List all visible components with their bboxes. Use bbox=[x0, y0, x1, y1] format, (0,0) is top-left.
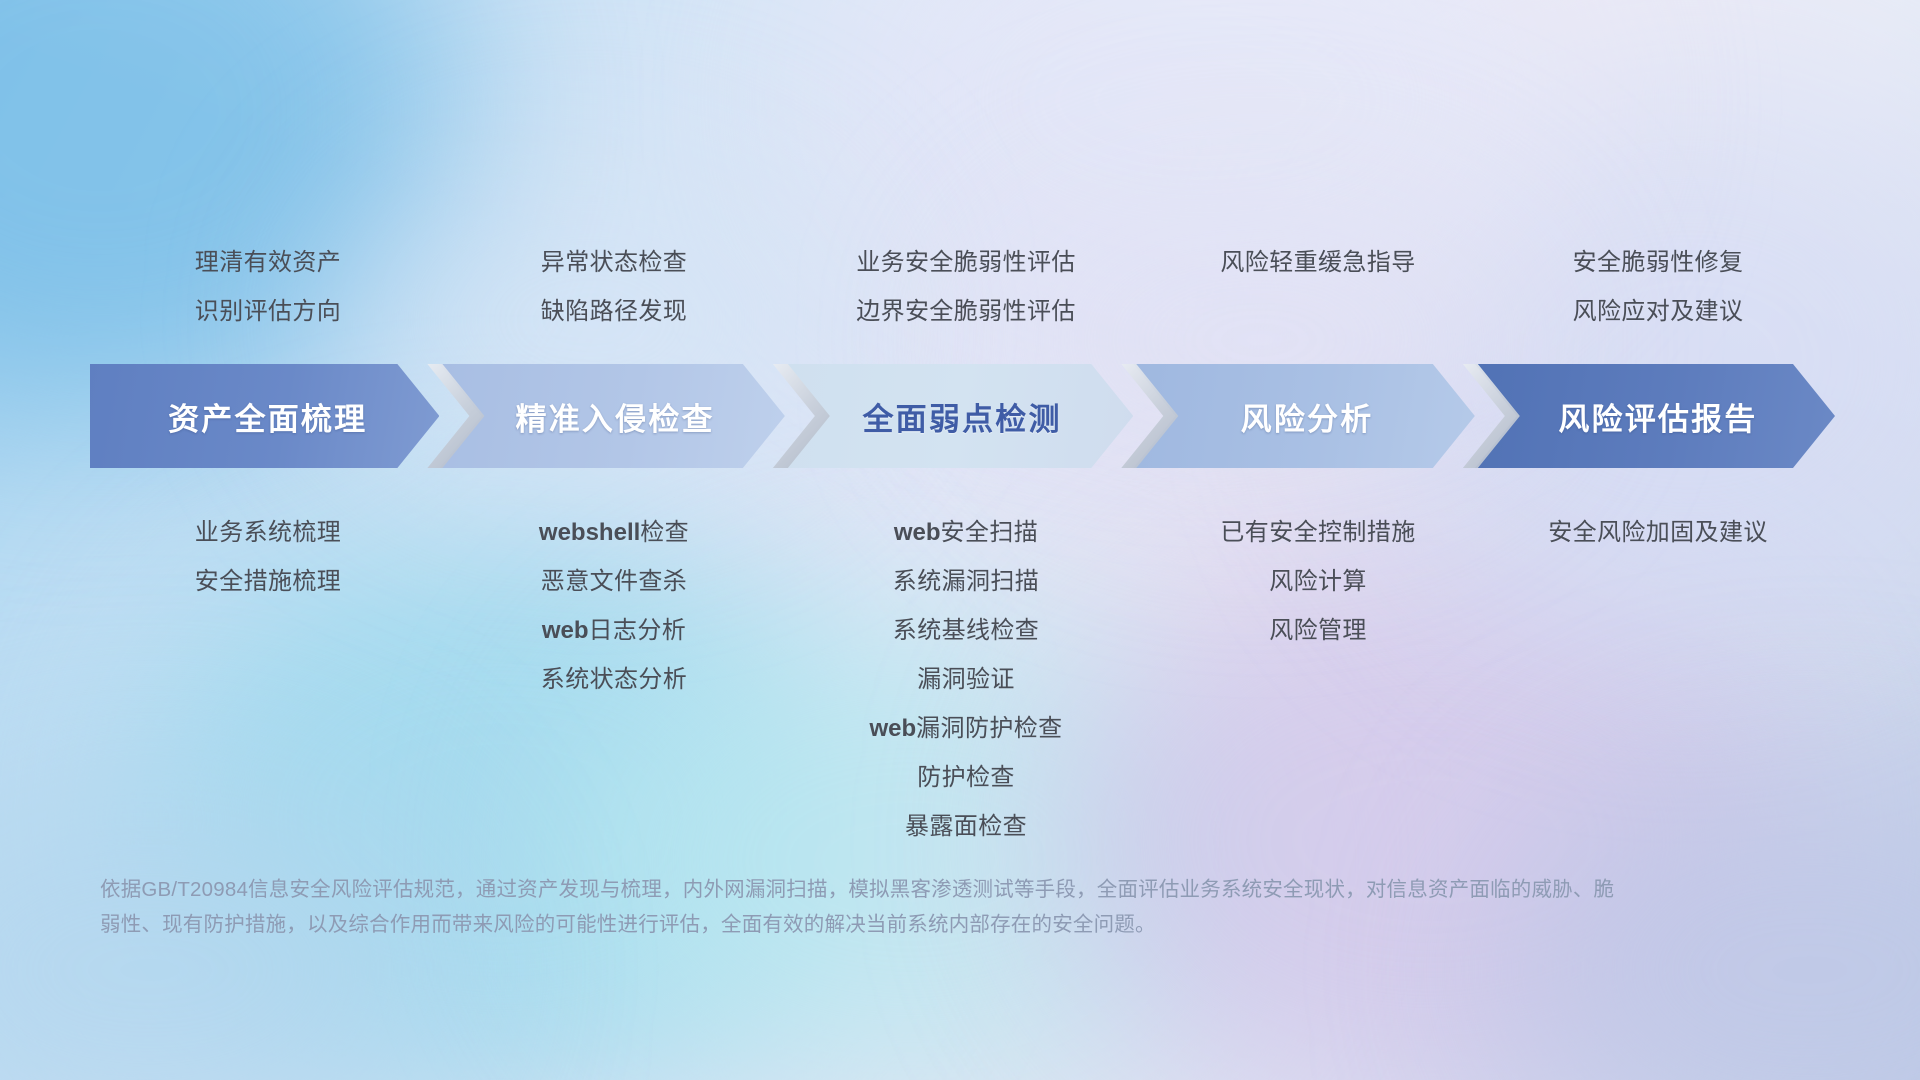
activity-text: 风险计算 bbox=[1269, 568, 1367, 595]
activity-line: 风险计算 bbox=[1269, 557, 1367, 606]
activity-line: 恶意文件查杀 bbox=[541, 557, 687, 606]
outcome-line: 风险轻重缓急指导 bbox=[1220, 238, 1415, 287]
activity-latin: web bbox=[542, 617, 589, 644]
activity-line: 风险管理 bbox=[1269, 606, 1367, 655]
stage-outcomes-intrusion-check: 异常状态检查 缺陷路径发现 bbox=[441, 238, 787, 336]
activity-text: 业务系统梳理 bbox=[195, 519, 341, 546]
activity-text: 系统状态分析 bbox=[541, 666, 687, 693]
activity-text: 防护检查 bbox=[917, 764, 1015, 791]
stage-label: 风险分析 bbox=[1133, 394, 1475, 439]
outcome-line: 风险应对及建议 bbox=[1573, 287, 1744, 336]
activity-text: 恶意文件查杀 bbox=[541, 568, 687, 595]
infographic-canvas: 理清有效资产 识别评估方向 异常状态检查 缺陷路径发现 业务安全脆弱性评估 边界… bbox=[0, 0, 1920, 1080]
activity-line: web漏洞防护检查 bbox=[869, 704, 1062, 753]
activity-line: 防护检查 bbox=[917, 753, 1015, 802]
activity-line: 漏洞验证 bbox=[917, 655, 1015, 704]
activity-line: 暴露面检查 bbox=[905, 802, 1027, 851]
stage-activities-row: 业务系统梳理 安全措施梳理 webshell检查 恶意文件查杀 web日志分析 … bbox=[95, 508, 1825, 851]
outcome-line: 识别评估方向 bbox=[195, 287, 341, 336]
activity-line: 安全措施梳理 bbox=[195, 557, 341, 606]
activity-latin: webshell bbox=[539, 519, 640, 546]
outcome-line: 安全脆弱性修复 bbox=[1573, 238, 1744, 287]
stage-chevron-intrusion-check[interactable]: 精准入侵检查 bbox=[439, 364, 784, 468]
stage-outcomes-row: 理清有效资产 识别评估方向 异常状态检查 缺陷路径发现 业务安全脆弱性评估 边界… bbox=[95, 238, 1825, 336]
outcome-line: 边界安全脆弱性评估 bbox=[856, 287, 1076, 336]
stage-label: 精准入侵检查 bbox=[439, 394, 784, 439]
stage-outcomes-assessment-report: 安全脆弱性修复 风险应对及建议 bbox=[1491, 238, 1825, 336]
activity-line: web日志分析 bbox=[542, 606, 686, 655]
activity-line: 业务系统梳理 bbox=[195, 508, 341, 557]
stage-activities-asset-inventory: 业务系统梳理 安全措施梳理 bbox=[95, 508, 441, 606]
outcome-line: 缺陷路径发现 bbox=[541, 287, 687, 336]
activity-line: 系统状态分析 bbox=[541, 655, 687, 704]
activity-line: web安全扫描 bbox=[894, 508, 1038, 557]
stage-chevron-weakness-detection[interactable]: 全面弱点检测 bbox=[785, 364, 1133, 468]
stage-chevron-asset-inventory[interactable]: 资产全面梳理 bbox=[90, 364, 439, 468]
activity-line: webshell检查 bbox=[539, 508, 689, 557]
outcome-line: 理清有效资产 bbox=[195, 238, 341, 287]
activity-text: 暴露面检查 bbox=[905, 813, 1027, 840]
activity-text: 系统基线检查 bbox=[893, 617, 1039, 644]
stage-label: 资产全面梳理 bbox=[90, 394, 439, 439]
stage-label: 全面弱点检测 bbox=[785, 394, 1133, 439]
activity-text: 安全扫描 bbox=[941, 519, 1039, 546]
activity-text: 已有安全控制措施 bbox=[1220, 519, 1415, 546]
activity-latin: web bbox=[894, 519, 941, 546]
stage-chevron-risk-analysis[interactable]: 风险分析 bbox=[1133, 364, 1475, 468]
stage-activities-risk-analysis: 已有安全控制措施 风险计算 风险管理 bbox=[1145, 508, 1491, 655]
activity-text: 检查 bbox=[640, 519, 689, 546]
activity-text: 漏洞防护检查 bbox=[916, 715, 1062, 742]
stage-outcomes-asset-inventory: 理清有效资产 识别评估方向 bbox=[95, 238, 441, 336]
stage-activities-assessment-report: 安全风险加固及建议 bbox=[1491, 508, 1825, 557]
activity-line: 系统漏洞扫描 bbox=[893, 557, 1039, 606]
stage-activities-weakness-detection: web安全扫描 系统漏洞扫描 系统基线检查 漏洞验证 web漏洞防护检查 防护检… bbox=[787, 508, 1145, 851]
activity-text: 安全风险加固及建议 bbox=[1548, 519, 1768, 546]
activity-line: 系统基线检查 bbox=[893, 606, 1039, 655]
stage-activities-intrusion-check: webshell检查 恶意文件查杀 web日志分析 系统状态分析 bbox=[441, 508, 787, 704]
stage-outcomes-weakness-detection: 业务安全脆弱性评估 边界安全脆弱性评估 bbox=[787, 238, 1145, 336]
activity-line: 安全风险加固及建议 bbox=[1548, 508, 1768, 557]
activity-latin: web bbox=[869, 715, 916, 742]
activity-text: 系统漏洞扫描 bbox=[893, 568, 1039, 595]
outcome-line: 异常状态检查 bbox=[541, 238, 687, 287]
activity-line: 已有安全控制措施 bbox=[1220, 508, 1415, 557]
process-arrow-band: 资产全面梳理 精准入侵检查 全面弱点检测 风险分析 风险评估报告 bbox=[90, 364, 1835, 468]
activity-text: 漏洞验证 bbox=[917, 666, 1015, 693]
footer-description: 依据GB/T20984信息安全风险评估规范，通过资产发现与梳理，内外网漏洞扫描，… bbox=[100, 872, 1620, 942]
stage-chevron-assessment-report[interactable]: 风险评估报告 bbox=[1475, 364, 1835, 468]
stage-outcomes-risk-analysis: 风险轻重缓急指导 bbox=[1145, 238, 1491, 287]
stage-label: 风险评估报告 bbox=[1475, 394, 1835, 439]
activity-text: 风险管理 bbox=[1269, 617, 1367, 644]
activity-text: 安全措施梳理 bbox=[195, 568, 341, 595]
activity-text: 日志分析 bbox=[589, 617, 687, 644]
outcome-line: 业务安全脆弱性评估 bbox=[856, 238, 1076, 287]
